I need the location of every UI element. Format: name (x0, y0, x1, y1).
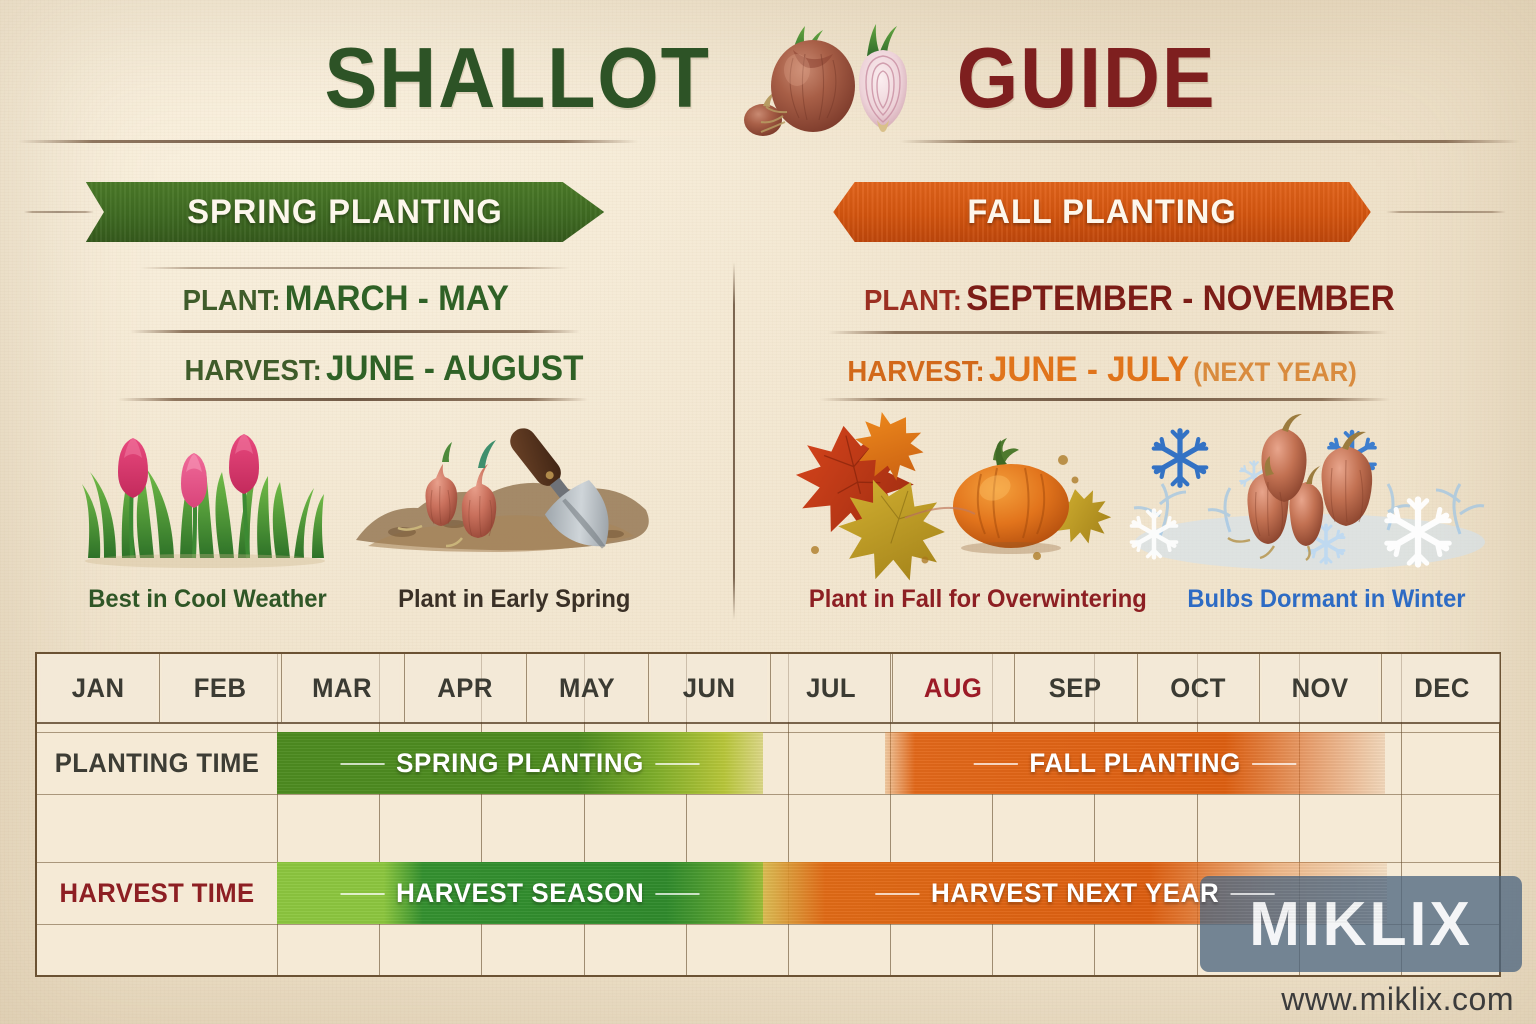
month-header-dec[interactable]: DEC (1384, 654, 1500, 722)
month-header-jan[interactable]: JAN (40, 654, 156, 722)
spring-caption-1: Best in Cool Weather (88, 585, 326, 614)
pumpkin-autumn-leaves-illustration (775, 410, 1145, 575)
fall-planting-banner: FALL PLANTING (833, 182, 1371, 242)
month-header-jul[interactable]: JUL (773, 654, 889, 722)
bar-label-harvest-season: HARVEST SEASON (375, 878, 665, 909)
month-header-divider (892, 654, 893, 722)
title-underline-right (900, 140, 1520, 143)
column-divider (733, 262, 735, 620)
month-header-divider (770, 654, 771, 722)
trowel-bulbs-soil-illustration (350, 400, 660, 570)
fall-harvest-value: JUNE - JULY (989, 350, 1189, 389)
spring-harvest-label: HARVEST: (184, 355, 321, 387)
month-header-divider (1259, 654, 1260, 722)
shallot-bulbs-illustration (731, 16, 941, 140)
month-header-feb[interactable]: FEB (162, 654, 278, 722)
month-header-divider (648, 654, 649, 722)
month-header-jun[interactable]: JUN (651, 654, 767, 722)
month-header-apr[interactable]: APR (407, 654, 523, 722)
title-word-guide: GUIDE (957, 36, 1217, 121)
fall-harvest-label: HARVEST: (847, 356, 984, 388)
row-label-planting-time: PLANTING TIME (43, 732, 271, 794)
fall-divider-2 (820, 398, 1390, 401)
month-header-divider (1381, 654, 1382, 722)
fall-caption-1: Plant in Fall for Overwintering (809, 585, 1147, 614)
month-header-sep[interactable]: SEP (1017, 654, 1133, 722)
fall-plant-line: PLANT: SEPTEMBER - NOVEMBER (864, 281, 1395, 316)
fall-banner-rule (1386, 211, 1506, 213)
month-header-divider (1014, 654, 1015, 722)
spring-divider-1 (140, 267, 570, 269)
bar-label-harvest-next-year: HARVEST NEXT YEAR (910, 878, 1240, 909)
month-header-may[interactable]: MAY (529, 654, 645, 722)
spring-plant-label: PLANT: (183, 285, 281, 317)
miklix-watermark-badge: MIKLIX (1200, 876, 1522, 972)
spring-caption-2: Plant in Early Spring (398, 585, 630, 614)
row-label-harvest-time: HARVEST TIME (43, 862, 271, 924)
spring-harvest-value: JUNE - AUGUST (326, 349, 583, 388)
bar-label-spring-planting: SPRING PLANTING (375, 748, 665, 779)
bar-fall-planting: FALL PLANTING (885, 732, 1385, 794)
calendar-row-divider (37, 794, 1499, 795)
month-header-aug[interactable]: AUG (895, 654, 1011, 722)
fall-caption-2: Bulbs Dormant in Winter (1187, 585, 1465, 614)
month-header-nov[interactable]: NOV (1262, 654, 1378, 722)
fall-divider-1 (828, 331, 1388, 334)
spring-divider-2 (130, 330, 580, 333)
title-word-shallot: SHALLOT (324, 36, 710, 121)
spring-plant-line: PLANT: MARCH - MAY (183, 281, 509, 316)
watermark-url: www.miklix.com (1281, 981, 1514, 1018)
month-header-divider (281, 654, 282, 722)
month-header-divider (159, 654, 160, 722)
calendar-row-divider (37, 722, 1499, 724)
month-header-oct[interactable]: OCT (1140, 654, 1256, 722)
fall-plant-label: PLANT: (864, 285, 962, 317)
month-header-divider (1137, 654, 1138, 722)
calendar-column-divider (890, 654, 891, 975)
fall-plant-value: SEPTEMBER - NOVEMBER (966, 279, 1395, 318)
spring-harvest-line: HARVEST: JUNE - AUGUST (184, 351, 583, 386)
spring-banner-rule (24, 211, 94, 213)
month-header-divider (404, 654, 405, 722)
bar-spring-planting: SPRING PLANTING (277, 732, 763, 794)
month-header-divider (526, 654, 527, 722)
tulips-grass-illustration (70, 418, 340, 568)
fall-harvest-line: HARVEST: JUNE - JULY (NEXT YEAR) (847, 352, 1356, 387)
fall-harvest-note: (NEXT YEAR) (1193, 357, 1356, 387)
page-title: SHALLOT (0, 18, 1536, 138)
spring-plant-value: MARCH - MAY (285, 279, 509, 318)
shallots-snowflakes-illustration (1130, 412, 1490, 577)
watermark-brand: MIKLIX (1249, 889, 1473, 960)
month-header-mar[interactable]: MAR (284, 654, 400, 722)
bar-label-fall-planting: FALL PLANTING (1008, 748, 1262, 779)
bar-harvest-season: HARVEST SEASON (277, 862, 763, 924)
spring-planting-banner: SPRING PLANTING (86, 182, 604, 242)
title-underline-left (18, 140, 638, 143)
